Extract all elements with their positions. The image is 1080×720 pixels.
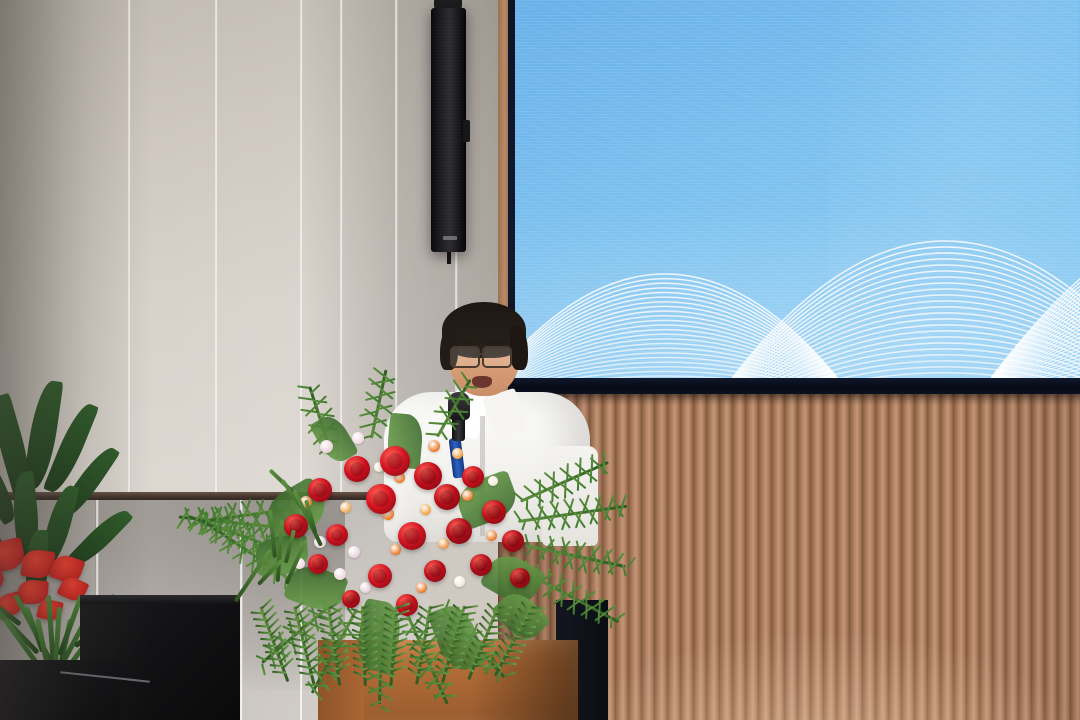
drooping-frond-4 <box>390 606 400 686</box>
filler-flower-13 <box>360 582 371 593</box>
speaker-logo <box>443 236 457 240</box>
right-plant-leaf-5 <box>276 520 284 582</box>
filler-flower-9 <box>462 490 473 501</box>
red-rose-5 <box>434 484 460 510</box>
filler-flower-4 <box>452 448 463 459</box>
red-rose-2 <box>414 462 442 490</box>
filler-flower-14 <box>390 544 401 555</box>
red-rose-8 <box>326 524 348 546</box>
red-rose-0 <box>344 456 370 482</box>
screen-bottom-bezel <box>508 378 1080 394</box>
red-rose-16 <box>470 554 492 576</box>
palm-frond-6 <box>519 459 608 502</box>
speaker-side-tab <box>463 120 470 142</box>
filler-flower-8 <box>420 504 431 515</box>
red-rose-14 <box>368 564 392 588</box>
left-vignette <box>0 0 150 720</box>
filler-flower-18 <box>416 582 427 593</box>
screen-glare <box>828 0 1078 392</box>
red-rose-19 <box>510 568 530 588</box>
filler-flower-12 <box>334 568 346 580</box>
filler-flower-11 <box>348 546 360 558</box>
filler-flower-1 <box>352 432 364 444</box>
red-rose-18 <box>342 590 360 608</box>
filler-flower-19 <box>454 576 465 587</box>
photo-scene <box>0 0 1080 720</box>
speaker-grill <box>435 20 461 238</box>
right-side-plant <box>262 470 322 610</box>
filler-flower-0 <box>320 440 333 453</box>
led-screen-assembly <box>498 0 1080 392</box>
red-rose-10 <box>446 518 472 544</box>
red-rose-6 <box>462 466 484 488</box>
red-rose-12 <box>502 530 524 552</box>
red-rose-1 <box>380 446 410 476</box>
eyeglass-lens-left <box>450 346 480 368</box>
red-rose-11 <box>482 500 506 524</box>
line-array-speaker <box>428 0 468 258</box>
filler-flower-16 <box>486 530 497 541</box>
filler-flower-21 <box>488 476 498 486</box>
filler-flower-3 <box>428 440 440 452</box>
red-rose-15 <box>424 560 446 582</box>
eyeglass-lens-right <box>482 346 512 368</box>
filler-flower-15 <box>438 538 449 549</box>
eyebrow-right <box>482 340 506 344</box>
speaker-mount-stem <box>447 250 451 264</box>
right-plant-leaf-2 <box>292 489 323 546</box>
right-plant-leaf-6 <box>284 530 296 564</box>
eyeglass-bridge <box>476 353 484 355</box>
red-rose-9 <box>398 522 426 550</box>
filler-flower-6 <box>340 502 351 513</box>
red-rose-4 <box>366 484 396 514</box>
eyebrow-left <box>450 340 474 344</box>
